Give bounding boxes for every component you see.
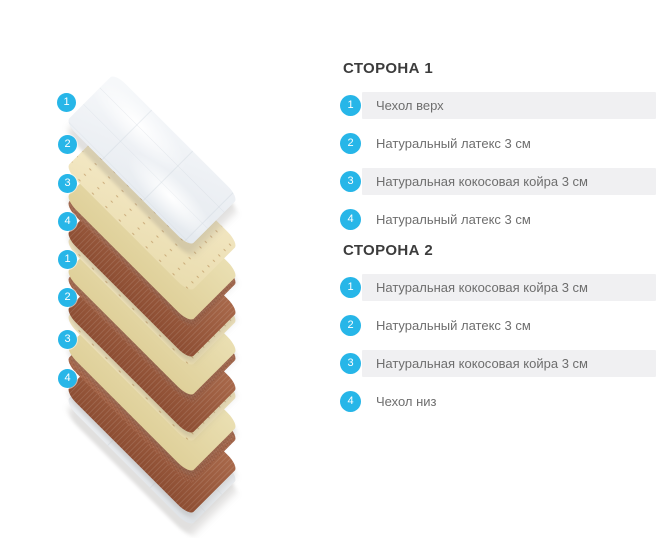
layers-legend: СТОРОНА 11Чехол верх2Натуральный латекс …	[330, 0, 672, 504]
stack-badge-7: 3	[58, 330, 77, 349]
legend-label: Чехол низ	[376, 388, 437, 415]
legend-label: Чехол верх	[376, 92, 444, 119]
legend-label: Натуральный латекс 3 см	[376, 130, 531, 157]
legend-section-title-1: СТОРОНА 1	[343, 60, 433, 77]
stack-badge-1: 1	[57, 93, 76, 112]
legend-badge: 3	[340, 353, 361, 374]
legend-row: 1Натуральная кокосовая койра 3 см	[344, 274, 656, 301]
stack-badge-8: 4	[58, 369, 77, 388]
legend-badge: 4	[340, 209, 361, 230]
legend-row: 3Натуральная кокосовая койра 3 см	[344, 168, 656, 195]
stack-badge-2: 2	[58, 135, 77, 154]
legend-badge: 1	[340, 277, 361, 298]
legend-badge: 1	[340, 95, 361, 116]
legend-label: Натуральный латекс 3 см	[376, 206, 531, 233]
legend-row: 1Чехол верх	[344, 92, 656, 119]
legend-label: Натуральная кокосовая койра 3 см	[376, 168, 588, 195]
mattress-layer-stack: 12341234	[0, 0, 330, 504]
legend-row: 2Натуральный латекс 3 см	[344, 130, 656, 157]
legend-row: 3Натуральная кокосовая койра 3 см	[344, 350, 656, 377]
legend-row: 4Чехол низ	[344, 388, 656, 415]
legend-label: Натуральная кокосовая койра 3 см	[376, 350, 588, 377]
legend-badge: 2	[340, 315, 361, 336]
legend-badge: 4	[340, 391, 361, 412]
legend-row: 2Натуральный латекс 3 см	[344, 312, 656, 339]
stack-badge-3: 3	[58, 174, 77, 193]
legend-section-title-2: СТОРОНА 2	[343, 242, 433, 259]
legend-row: 4Натуральный латекс 3 см	[344, 206, 656, 233]
mattress-layers-infographic: 12341234 СТОРОНА 11Чехол верх2Натуральны…	[0, 0, 672, 504]
stack-badge-4: 4	[58, 212, 77, 231]
legend-label: Натуральная кокосовая койра 3 см	[376, 274, 588, 301]
legend-badge: 2	[340, 133, 361, 154]
legend-label: Натуральный латекс 3 см	[376, 312, 531, 339]
legend-badge: 3	[340, 171, 361, 192]
stack-badge-6: 2	[58, 288, 77, 307]
stack-badge-5: 1	[58, 250, 77, 269]
